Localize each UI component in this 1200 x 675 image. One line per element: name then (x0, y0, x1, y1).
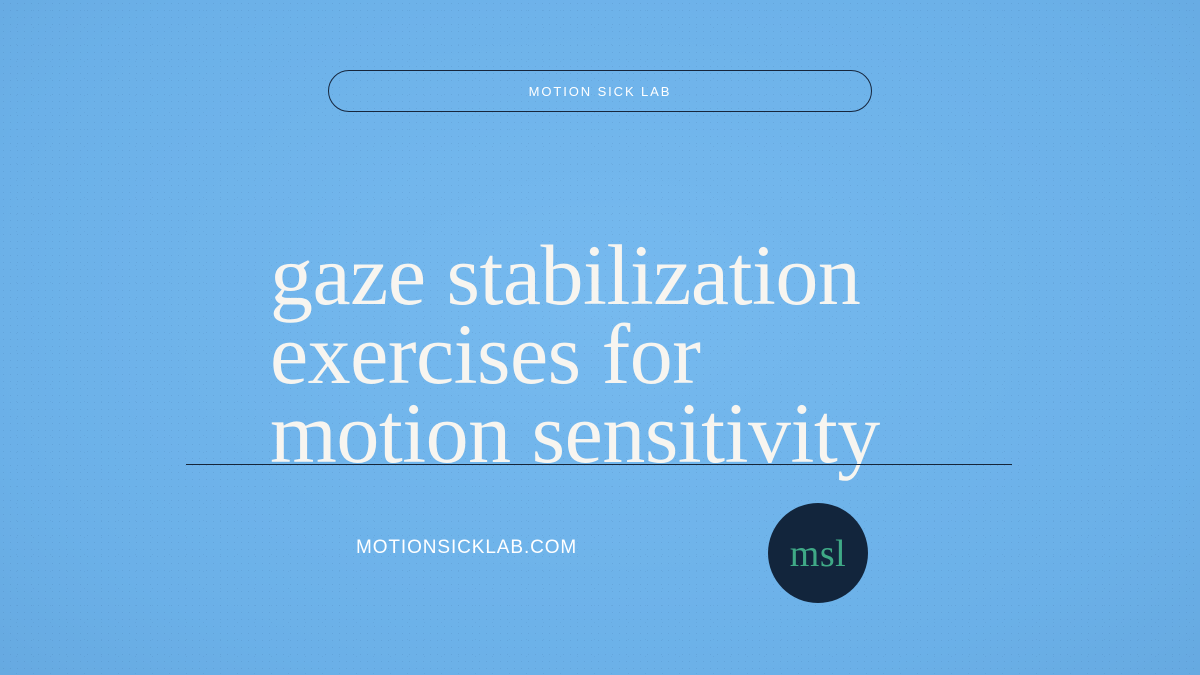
horizontal-divider (186, 464, 1012, 465)
headline-line-3: motion sensitivity (270, 394, 1150, 473)
eyebrow-pill: MOTION SICK LAB (328, 70, 872, 112)
website-url: MOTIONSICKLAB.COM (356, 537, 577, 559)
logo-badge: msl (768, 503, 868, 603)
headline-line-1: gaze stabilization (270, 236, 1150, 315)
eyebrow-label: MOTION SICK LAB (529, 84, 672, 99)
logo-wordmark: msl (790, 535, 846, 573)
social-card: MOTION SICK LAB gaze stabilization exerc… (0, 0, 1200, 675)
headline-line-2: exercises for (270, 315, 1150, 394)
headline: gaze stabilization exercises for motion … (270, 236, 1150, 473)
